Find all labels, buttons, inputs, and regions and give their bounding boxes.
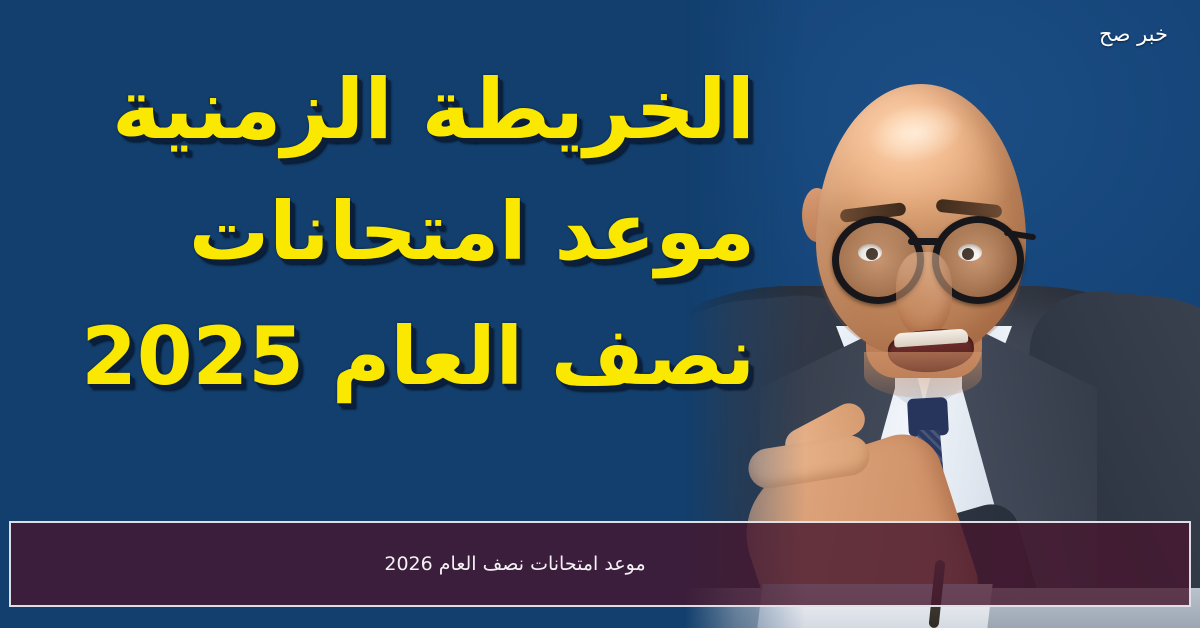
banner-canvas: خبر صح الخريطة الزمنية موعد امتحانات نصف…	[0, 0, 1200, 628]
eyeglasses-bridge	[908, 238, 940, 245]
chin	[864, 352, 982, 398]
caption-text: موعد امتحانات نصف العام 2026	[384, 553, 645, 575]
site-watermark: خبر صح	[1099, 22, 1168, 46]
nose	[896, 252, 952, 338]
caption-bar: موعد امتحانات نصف العام 2026	[9, 521, 1191, 607]
